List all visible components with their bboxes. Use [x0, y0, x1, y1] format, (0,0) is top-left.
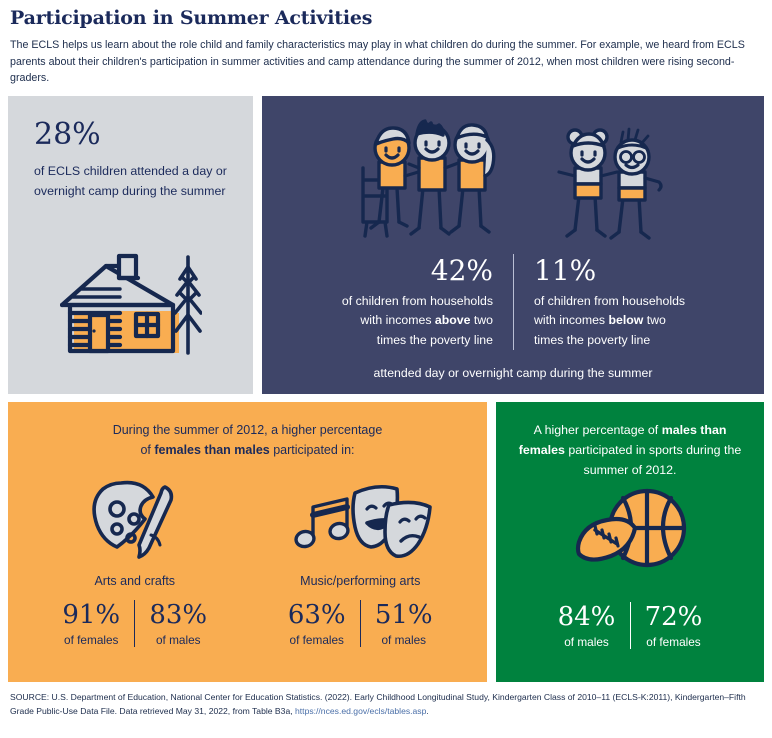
sports-female-label: of females: [631, 635, 717, 649]
source-period: .: [426, 706, 428, 716]
income-stats-row: 42% of children from households with inc…: [278, 254, 748, 351]
source-link[interactable]: https://nces.ed.gov/ecls/tables.asp: [295, 706, 426, 716]
source-note: SOURCE: U.S. Department of Education, Na…: [10, 690, 762, 718]
music-female-stat: 63% of females: [274, 600, 360, 647]
sports-male-stat: 84% of males: [544, 602, 630, 649]
green-heading-suffix: participated in sports during the summer…: [565, 443, 741, 477]
bottom-panel-row: During the summer of 2012, a higher perc…: [8, 402, 764, 682]
green-heading-prefix: A higher percentage of: [534, 423, 662, 437]
below-line2-prefix: with incomes: [534, 313, 609, 327]
above-line1: of children from households: [342, 294, 493, 308]
orange-heading-line1: During the summer of 2012, a higher perc…: [113, 423, 383, 437]
camp-attendance-panel: 28% of ECLS children attended a day or o…: [8, 96, 253, 394]
sports-stats: 84% of males 72% of females: [514, 602, 746, 649]
green-panel-heading: A higher percentage of males than female…: [514, 420, 746, 480]
activity-columns: Arts and crafts 91% of females 83% of ma…: [22, 474, 473, 647]
page-title: Participation in Summer Activities: [10, 7, 764, 29]
navy-panel-footer: attended day or overnight camp during th…: [278, 366, 748, 380]
arts-male-stat: 83% of males: [134, 600, 221, 647]
below-line2-bold: below: [609, 313, 644, 327]
above-line2-bold: above: [435, 313, 471, 327]
orange-heading-line2-prefix: of: [140, 443, 154, 457]
camp-by-income-panel: 42% of children from households with inc…: [262, 96, 764, 394]
arts-male-percent: 83%: [135, 600, 221, 630]
above-poverty-stat: 42% of children from households with inc…: [281, 254, 513, 351]
below-line3: times the poverty line: [534, 333, 650, 347]
log-cabin-and-pine-tree-icon: [60, 253, 202, 370]
music-female-label: of females: [274, 633, 360, 647]
sports-female-stat: 72% of females: [630, 602, 717, 649]
basketball-and-football-icon: [514, 484, 746, 576]
sports-male-percent: 84%: [544, 602, 630, 632]
sports-male-label: of males: [544, 635, 630, 649]
intro-paragraph: The ECLS helps us learn about the role c…: [10, 37, 762, 87]
music-male-stat: 51% of males: [360, 600, 447, 647]
below-poverty-stat: 11% of children from households with inc…: [513, 254, 745, 351]
music-male-label: of males: [361, 633, 447, 647]
orange-panel-heading: During the summer of 2012, a higher perc…: [22, 420, 473, 460]
music-notes-and-theater-masks-icon: [248, 474, 474, 566]
group-of-children-icon: [278, 110, 748, 242]
arts-and-crafts-label: Arts and crafts: [22, 574, 248, 588]
orange-heading-line2-bold: females than males: [154, 443, 269, 457]
music-performing-arts-column: Music/performing arts 63% of females 51%…: [248, 474, 474, 647]
arts-female-percent: 91%: [48, 600, 134, 630]
camp-attendance-description: of ECLS children attended a day or overn…: [34, 161, 230, 201]
male-sports-panel: A higher percentage of males than female…: [496, 402, 764, 682]
music-performing-arts-label: Music/performing arts: [248, 574, 474, 588]
music-male-percent: 51%: [361, 600, 447, 630]
above-line2-suffix: two: [470, 313, 493, 327]
orange-heading-line2-suffix: participated in:: [270, 443, 355, 457]
paint-palette-and-brush-icon: [22, 474, 248, 566]
below-line2-suffix: two: [643, 313, 666, 327]
sports-female-percent: 72%: [631, 602, 717, 632]
female-activities-panel: During the summer of 2012, a higher perc…: [8, 402, 487, 682]
arts-female-label: of females: [48, 633, 134, 647]
arts-male-label: of males: [135, 633, 221, 647]
above-poverty-description: of children from households with incomes…: [281, 292, 493, 351]
arts-and-crafts-column: Arts and crafts 91% of females 83% of ma…: [22, 474, 248, 647]
arts-and-crafts-stats: 91% of females 83% of males: [22, 600, 248, 647]
above-line3: times the poverty line: [377, 333, 493, 347]
above-poverty-percent: 42%: [281, 254, 493, 288]
camp-attendance-percent: 28%: [34, 118, 233, 152]
below-line1: of children from households: [534, 294, 685, 308]
below-poverty-description: of children from households with incomes…: [534, 292, 745, 351]
arts-female-stat: 91% of females: [48, 600, 134, 647]
below-poverty-percent: 11%: [534, 254, 745, 288]
top-panel-row: 28% of ECLS children attended a day or o…: [8, 96, 764, 394]
music-female-percent: 63%: [274, 600, 360, 630]
above-line2-prefix: with incomes: [360, 313, 435, 327]
music-stats: 63% of females 51% of males: [248, 600, 474, 647]
infographic-page: Participation in Summer Activities The E…: [0, 7, 772, 738]
